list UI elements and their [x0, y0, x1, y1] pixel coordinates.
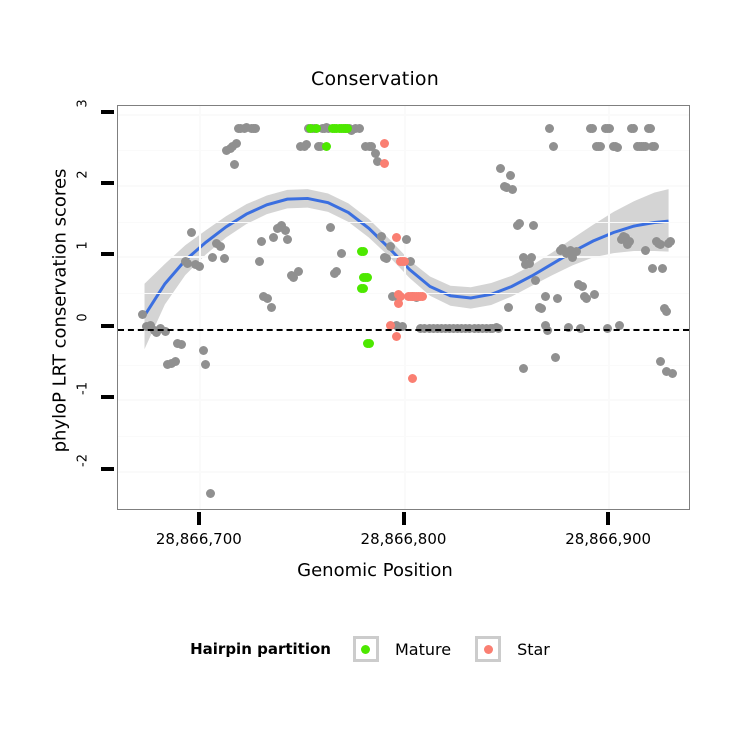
data-point-other — [648, 264, 657, 273]
plot-panel — [117, 105, 690, 510]
x-axis-tick — [197, 512, 201, 525]
y-axis-tick — [101, 467, 114, 471]
legend-dot-mature — [361, 645, 370, 654]
legend: Hairpin partition Mature Star — [0, 636, 750, 662]
y-axis-tick — [101, 181, 114, 185]
data-point-mature — [363, 273, 372, 282]
y-axis-tick — [101, 252, 114, 256]
data-point-other — [656, 357, 665, 366]
data-point-other — [269, 233, 278, 242]
data-point-mature — [359, 284, 368, 293]
data-point-other — [267, 303, 276, 312]
data-point-star — [400, 257, 409, 266]
gridline-x — [199, 106, 201, 509]
data-point-other — [578, 282, 587, 291]
x-axis-label: Genomic Position — [0, 560, 750, 581]
data-point-other — [613, 143, 622, 152]
data-point-other — [187, 228, 196, 237]
page-title: Conservation — [0, 68, 750, 90]
y-axis-tick — [101, 110, 114, 114]
y-axis-tick — [101, 395, 114, 399]
data-point-other — [195, 262, 204, 271]
data-point-other — [171, 357, 180, 366]
data-point-other — [255, 257, 264, 266]
x-axis-tick-label: 28,866,900 — [528, 530, 688, 548]
data-point-other — [232, 139, 241, 148]
data-point-mature — [365, 339, 374, 348]
data-point-other — [531, 276, 540, 285]
data-point-other — [382, 254, 391, 263]
data-point-other — [386, 242, 395, 251]
data-point-other — [251, 124, 260, 133]
data-point-other — [257, 237, 266, 246]
data-point-other — [605, 124, 614, 133]
legend-dot-star — [484, 645, 493, 654]
data-point-other — [496, 164, 505, 173]
y-axis-tick-label: 3 — [76, 90, 91, 116]
y-axis-tick — [101, 324, 114, 328]
data-point-other — [161, 327, 170, 336]
data-point-other — [662, 307, 671, 316]
data-point-other — [650, 142, 659, 151]
legend-label-mature: Mature — [395, 640, 451, 659]
x-axis: 28,866,70028,866,80028,866,900 — [117, 512, 690, 552]
y-axis-tick-label: 2 — [76, 162, 91, 188]
gridline-x — [608, 106, 610, 509]
x-axis-tick-label: 28,866,800 — [324, 530, 484, 548]
data-point-other — [206, 489, 215, 498]
data-point-other — [668, 369, 677, 378]
legend-key-star[interactable] — [475, 636, 501, 662]
data-point-other — [658, 264, 667, 273]
data-point-other — [294, 267, 303, 276]
x-axis-tick-label: 28,866,700 — [119, 530, 279, 548]
y-axis-tick-label: 0 — [76, 304, 91, 330]
data-point-star — [392, 233, 401, 242]
x-axis-tick — [606, 512, 610, 525]
legend-title: Hairpin partition — [190, 640, 331, 658]
y-axis-tick-label: -2 — [76, 447, 91, 473]
data-point-other — [208, 253, 217, 262]
legend-key-mature[interactable] — [353, 636, 379, 662]
data-point-star — [380, 139, 389, 148]
data-point-star — [380, 159, 389, 168]
data-point-star — [392, 332, 401, 341]
data-point-other — [177, 340, 186, 349]
data-point-other — [337, 249, 346, 258]
y-axis-label: phyloP LRT conservation scores — [50, 101, 71, 521]
legend-label-star: Star — [517, 640, 550, 659]
data-point-other — [519, 364, 528, 373]
data-point-other — [515, 219, 524, 228]
data-point-other — [302, 140, 311, 149]
chart-root: Conservation phyloP LRT conservation sco… — [0, 0, 750, 750]
data-point-other — [216, 242, 225, 251]
data-point-other — [646, 124, 655, 133]
zero-reference-line — [118, 329, 689, 331]
x-axis-tick — [402, 512, 406, 525]
data-point-star — [418, 292, 427, 301]
data-point-other — [377, 232, 386, 241]
y-axis-tick-label: -1 — [76, 376, 91, 402]
data-point-other — [596, 142, 605, 151]
data-point-other — [529, 221, 538, 230]
data-point-other — [527, 253, 536, 262]
y-axis-tick-label: 1 — [76, 233, 91, 259]
gridline-x — [404, 106, 406, 509]
data-point-mature — [343, 124, 352, 133]
